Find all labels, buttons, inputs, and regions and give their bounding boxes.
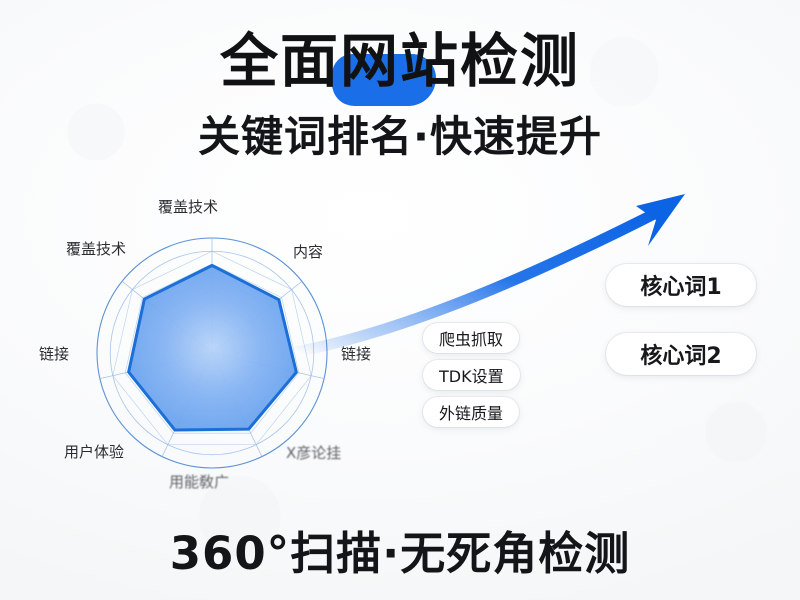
keyword-pill-2[interactable]: 核心词2 [606,333,756,375]
radar-label-top: 覆盖技术 [158,196,218,217]
poster-canvas: 全面网站检测 关键词排名·快速提升 覆盖技术 覆盖技术 内容 链接 链接 用户体… [0,0,800,600]
keyword-pill-1[interactable]: 核心词1 [606,264,756,306]
subtitle: 关键词排名·快速提升 [0,116,800,158]
radar-label-bottom-left: 用户体验 [64,441,124,462]
keyword-pill-2-label: 核心词2 [640,338,721,370]
radar-series-polygon [129,265,297,430]
radar-label-bottom: 用能敎广 [169,471,229,492]
radar-label-bottom-right: X彦论挂 [286,442,341,463]
page-title-text: 全面网站检测 [220,27,580,95]
tag-backlink-quality[interactable]: 外链质量 [423,397,519,427]
tag-crawl[interactable]: 爬虫抓取 [423,323,519,353]
radar-label-top-left: 覆盖技术 [66,238,126,259]
headline-block: 全面网站检测 [0,32,800,90]
tag-backlink-quality-label: 外链质量 [439,400,503,424]
tag-tdk[interactable]: TDK设置 [423,360,520,390]
radar-label-left: 链接 [39,343,69,364]
page-title: 全面网站检测 [220,32,580,90]
footer-tagline: 360°扫描·无死角检测 [0,531,800,576]
tag-crawl-label: 爬虫抓取 [439,326,503,350]
tag-tdk-label: TDK设置 [439,363,504,387]
keyword-pill-1-label: 核心词1 [640,269,721,301]
